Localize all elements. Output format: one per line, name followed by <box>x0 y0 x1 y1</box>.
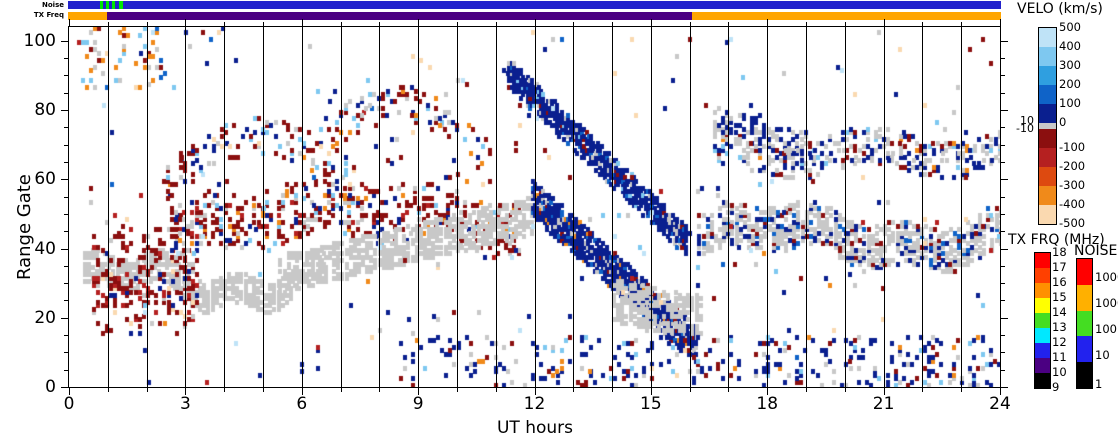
y-tick-right <box>1000 162 1005 163</box>
gridline-vertical <box>922 27 923 387</box>
y-tick <box>61 318 69 319</box>
x-tick-label: 6 <box>262 394 342 414</box>
x-tick-label: 12 <box>495 394 575 414</box>
y-tick-label: 0 <box>0 377 56 397</box>
x-tick <box>922 387 923 392</box>
gridline-vertical <box>961 27 962 387</box>
y-tick-right <box>1000 335 1005 336</box>
noise-bar-label: Noise <box>0 1 64 9</box>
y-tick <box>64 75 69 76</box>
colorbar-swatch <box>1039 28 1056 47</box>
y-tick <box>64 283 69 284</box>
colorbar-tick-label: 500 <box>1059 20 1081 34</box>
colorbar-tick-label: 10 <box>1095 348 1110 362</box>
colorbar-tick-label: -500 <box>1059 216 1085 230</box>
y-tick <box>64 93 69 94</box>
y-tick-right <box>1000 197 1005 198</box>
gridline-vertical <box>845 27 846 387</box>
colorbar-swatch <box>1077 362 1092 388</box>
gridline-vertical <box>728 27 729 387</box>
x-tick-top <box>845 22 846 27</box>
tx-freq-bar-label: TX Freq <box>0 11 64 19</box>
x-tick-top <box>457 22 458 27</box>
noise-status-bar <box>68 1 1001 9</box>
colorbar-swatch <box>1039 104 1056 123</box>
colorbar-swatch <box>1039 85 1056 104</box>
colorbar-swatch <box>1035 328 1050 343</box>
tx-frq-colorbar <box>1034 252 1051 389</box>
y-tick-right <box>1000 318 1008 319</box>
gridline-vertical <box>535 27 536 387</box>
colorbar-swatch <box>1035 373 1050 388</box>
x-tick-top <box>612 22 613 27</box>
bar-segment <box>68 1 100 9</box>
noise-colorbar-title: NOISE <box>1074 243 1117 259</box>
x-tick-top <box>302 19 303 27</box>
x-tick-label: 15 <box>611 394 691 414</box>
colorbar-tick-label: 1 <box>1095 377 1102 391</box>
colorbar-swatch <box>1077 336 1092 362</box>
y-tick <box>61 110 69 111</box>
x-tick <box>147 387 148 392</box>
y-tick <box>64 127 69 128</box>
gridline-vertical <box>108 27 109 387</box>
x-tick <box>612 387 613 392</box>
y-tick <box>64 352 69 353</box>
y-tick <box>64 58 69 59</box>
y-tick <box>64 231 69 232</box>
x-tick-top <box>263 22 264 27</box>
gridline-vertical <box>496 27 497 387</box>
x-tick <box>806 387 807 392</box>
x-tick-top <box>961 22 962 27</box>
x-tick-label: 9 <box>378 394 458 414</box>
colorbar-swatch <box>1035 283 1050 298</box>
x-tick <box>341 387 342 392</box>
gridline-vertical <box>767 27 768 387</box>
x-tick-top <box>767 19 768 27</box>
x-tick <box>728 387 729 392</box>
x-tick <box>263 387 264 392</box>
x-tick-top <box>806 22 807 27</box>
y-tick <box>61 179 69 180</box>
y-tick-right <box>1000 370 1005 371</box>
y-tick <box>64 214 69 215</box>
colorbar-tick-label: -200 <box>1059 159 1085 173</box>
gridline-vertical <box>457 27 458 387</box>
colorbar-swatch <box>1035 268 1050 283</box>
colorbar-tick-label: -400 <box>1059 197 1085 211</box>
colorbar-swatch <box>1035 358 1050 373</box>
x-tick-top <box>224 22 225 27</box>
y-tick-label: 20 <box>0 308 56 328</box>
x-tick-top <box>147 22 148 27</box>
gridline-vertical <box>806 27 807 387</box>
y-tick <box>64 300 69 301</box>
x-tick-label: 3 <box>145 394 225 414</box>
y-tick <box>61 41 69 42</box>
x-tick-top <box>69 19 70 27</box>
y-tick-right <box>1000 75 1005 76</box>
x-tick <box>961 387 962 392</box>
colorbar-tick-label: 18 <box>1052 245 1067 259</box>
x-tick-label: 21 <box>844 394 924 414</box>
gridline-vertical <box>263 27 264 387</box>
y-tick <box>64 266 69 267</box>
colorbar-tick-label: 200 <box>1059 77 1081 91</box>
x-tick <box>108 387 109 392</box>
bar-segment <box>123 1 1001 9</box>
y-tick-right <box>1000 249 1008 250</box>
colorbar-swatch <box>1035 313 1050 328</box>
y-tick-right <box>1000 41 1008 42</box>
colorbar-swatch <box>1039 205 1056 224</box>
colorbar-swatch <box>1039 47 1056 66</box>
gridline-vertical <box>884 27 885 387</box>
y-tick-label: 80 <box>0 100 56 120</box>
y-tick-right <box>1000 58 1005 59</box>
gridline-vertical <box>224 27 225 387</box>
y-tick-right <box>1000 179 1008 180</box>
x-tick-top <box>418 19 419 27</box>
colorbar-swatch <box>1035 298 1050 313</box>
x-tick-top <box>496 22 497 27</box>
colorbar-swatch <box>1077 311 1092 337</box>
colorbar-tick-label: 16 <box>1052 275 1067 289</box>
y-tick-right <box>1000 300 1005 301</box>
colorbar-swatch <box>1039 66 1056 85</box>
x-tick <box>496 387 497 392</box>
colorbar-tick-label: 100 <box>1059 96 1081 110</box>
y-tick-right <box>1000 127 1005 128</box>
gridline-vertical <box>379 27 380 387</box>
y-tick <box>64 197 69 198</box>
colorbar-tick-label: 12 <box>1052 335 1067 349</box>
gridline-vertical <box>690 27 691 387</box>
noise-colorbar <box>1076 258 1093 389</box>
y-tick <box>64 370 69 371</box>
colorbar-tick-label: -100 <box>1059 140 1085 154</box>
colorbar-tick-label: 100 <box>1095 322 1117 336</box>
gridline-vertical <box>418 27 419 387</box>
colorbar-swatch <box>1077 259 1092 285</box>
x-tick-top <box>341 22 342 27</box>
colorbar-ground-scatter-label: -10 <box>1006 122 1034 135</box>
colorbar-tick-label: 11 <box>1052 350 1067 364</box>
colorbar-tick-label: 9 <box>1052 380 1059 394</box>
y-tick <box>61 249 69 250</box>
gridline-vertical <box>341 27 342 387</box>
colorbar-tick-label: 0 <box>1059 115 1066 129</box>
gridline-vertical <box>651 27 652 387</box>
colorbar-tick-label: 400 <box>1059 39 1081 53</box>
gridline-vertical <box>612 27 613 387</box>
x-tick <box>573 387 574 392</box>
x-tick <box>379 387 380 392</box>
colorbar-tick-label: 17 <box>1052 260 1067 274</box>
x-tick-label: 18 <box>727 394 807 414</box>
colorbar-swatch <box>1039 148 1056 167</box>
y-tick-right <box>1000 387 1008 388</box>
colorbar-tick-label: 13 <box>1052 320 1067 334</box>
radar-range-time-plot: Noise TX Freq 03691215182124020406080100… <box>0 0 1118 435</box>
bar-segment <box>68 12 107 20</box>
x-tick <box>845 387 846 392</box>
y-tick-right <box>1000 283 1005 284</box>
colorbar-swatch <box>1035 253 1050 268</box>
y-tick-right <box>1000 266 1005 267</box>
x-tick-top <box>922 22 923 27</box>
x-tick-top <box>728 22 729 27</box>
gridline-vertical <box>147 27 148 387</box>
x-tick-top <box>573 22 574 27</box>
y-tick-label: 100 <box>0 31 56 51</box>
colorbar-swatch <box>1035 343 1050 358</box>
x-tick-top <box>108 22 109 27</box>
colorbar-tick-label: 1000 <box>1095 296 1118 310</box>
x-tick-top <box>535 19 536 27</box>
x-tick <box>224 387 225 392</box>
x-tick-label: 24 <box>960 394 1040 414</box>
colorbar-swatch <box>1039 167 1056 186</box>
bar-segment <box>107 12 692 20</box>
x-tick-top <box>185 19 186 27</box>
x-tick-label: 0 <box>29 394 109 414</box>
y-tick <box>64 162 69 163</box>
colorbar-swatch <box>1077 285 1092 311</box>
y-tick-right <box>1000 110 1008 111</box>
y-tick <box>61 387 69 388</box>
colorbar-swatch <box>1039 129 1056 148</box>
x-tick <box>457 387 458 392</box>
x-tick-top <box>884 19 885 27</box>
colorbar-tick-label: 10 <box>1052 365 1067 379</box>
y-tick-right <box>1000 231 1005 232</box>
y-tick-right <box>1000 93 1005 94</box>
colorbar-swatch <box>1039 186 1056 205</box>
x-tick-top <box>651 19 652 27</box>
y-tick-right <box>1000 145 1005 146</box>
x-tick <box>690 387 691 392</box>
colorbar-tick-label: 15 <box>1052 290 1067 304</box>
colorbar-tick-label: 300 <box>1059 58 1081 72</box>
y-axis-title: Range Gate <box>14 174 35 280</box>
x-tick-top <box>1000 19 1001 27</box>
gridline-vertical <box>302 27 303 387</box>
gridline-vertical <box>185 27 186 387</box>
bar-segment <box>692 12 1001 20</box>
colorbar-tick-label: 10000 <box>1095 270 1118 284</box>
x-tick-top <box>690 22 691 27</box>
y-tick-right <box>1000 352 1005 353</box>
colorbar-tick-label: 14 <box>1052 305 1067 319</box>
gridline-vertical <box>573 27 574 387</box>
velocity-colorbar-title: VELO (km/s) <box>1017 1 1103 17</box>
y-tick <box>64 335 69 336</box>
x-axis-title: UT hours <box>435 418 635 438</box>
colorbar-tick-label: -300 <box>1059 178 1085 192</box>
velocity-colorbar <box>1038 27 1057 225</box>
y-tick <box>64 145 69 146</box>
plot-area <box>68 26 1001 388</box>
x-tick-top <box>379 22 380 27</box>
y-tick-right <box>1000 214 1005 215</box>
